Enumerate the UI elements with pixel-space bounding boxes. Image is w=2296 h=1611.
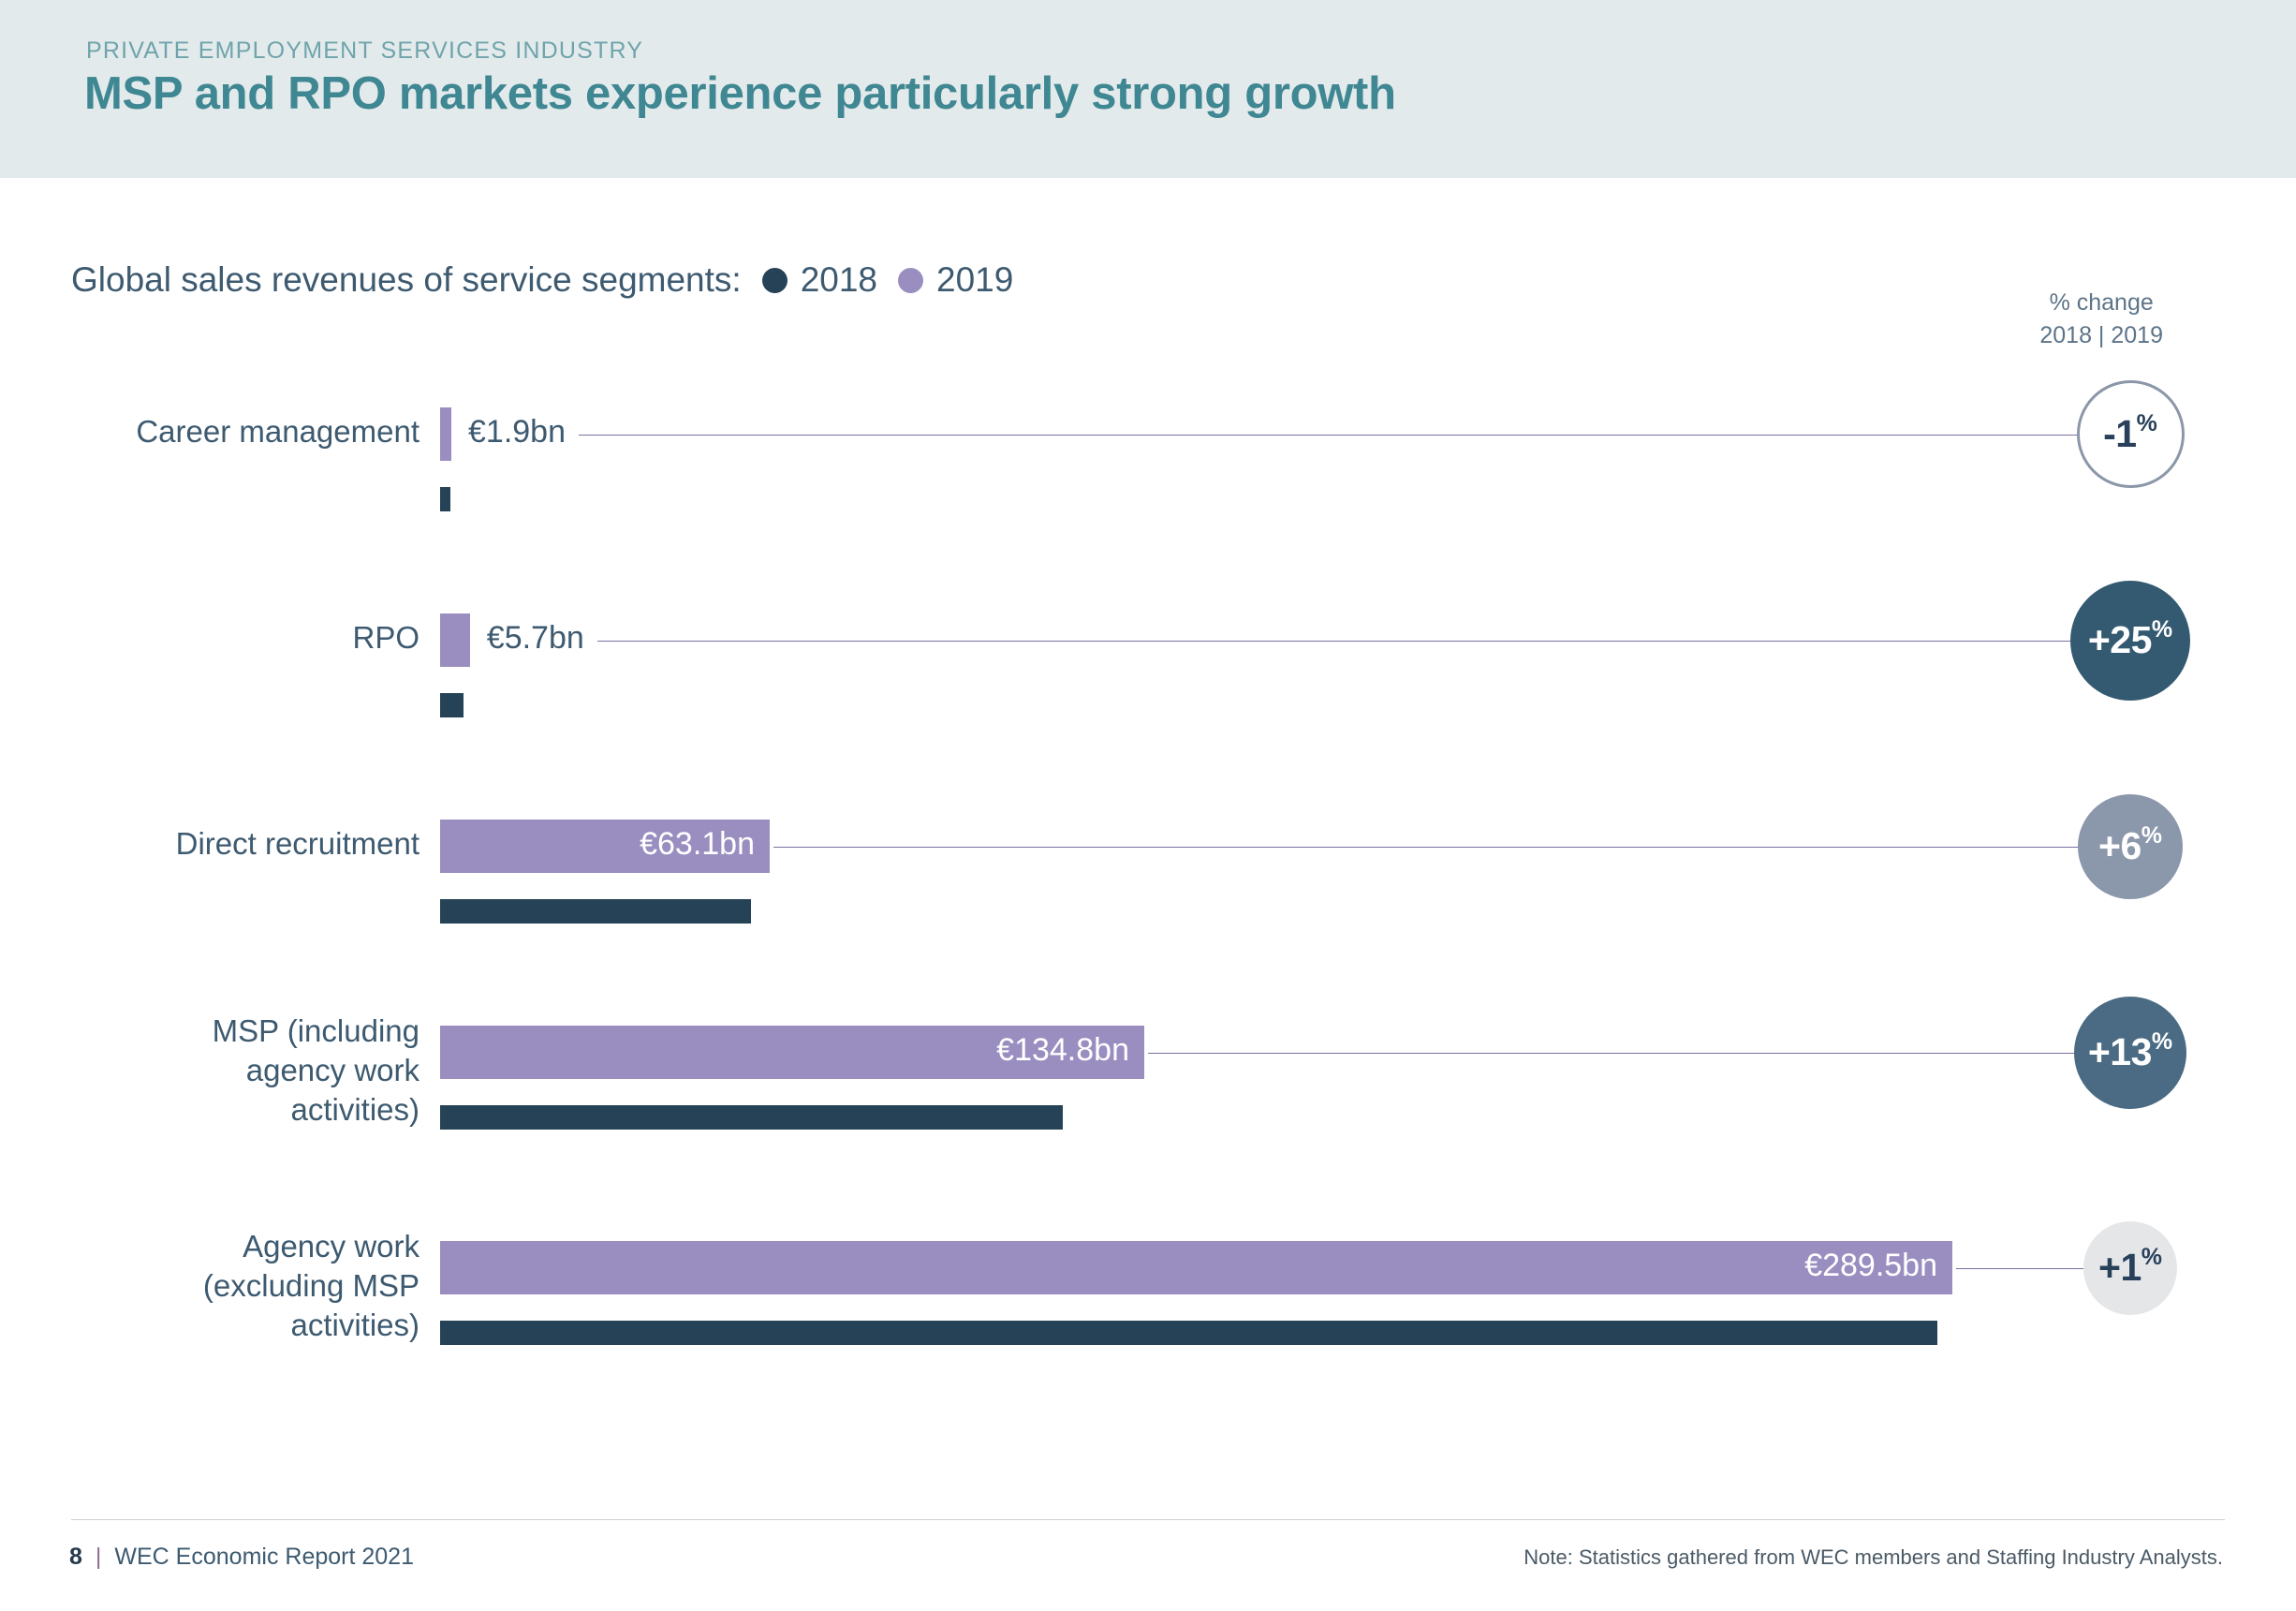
category-label-line: RPO bbox=[64, 618, 419, 658]
percent-change-value: +13 bbox=[2088, 1030, 2152, 1074]
category-label: Direct recruitment bbox=[64, 824, 419, 864]
category-label-line: Agency work bbox=[64, 1227, 419, 1266]
legend-dot-2018 bbox=[762, 268, 787, 293]
chart-subtitle: Global sales revenues of service segment… bbox=[71, 260, 742, 300]
bar-2018 bbox=[440, 693, 464, 717]
legend-label-2018: 2018 bbox=[801, 260, 877, 300]
report-name: WEC Economic Report 2021 bbox=[114, 1544, 414, 1571]
footer-left: 8 | WEC Economic Report 2021 bbox=[69, 1544, 414, 1571]
bar-2018 bbox=[440, 1321, 1937, 1345]
footer-separator: | bbox=[96, 1544, 102, 1571]
bar-2019 bbox=[440, 1241, 1952, 1294]
category-label-line: agency work bbox=[64, 1051, 419, 1090]
footer-note: Note: Statistics gathered from WEC membe… bbox=[1523, 1545, 2223, 1570]
percent-change-bubble[interactable]: +1% bbox=[2083, 1221, 2177, 1315]
leader-line bbox=[773, 847, 2078, 848]
percent-sign: % bbox=[2141, 822, 2162, 850]
page-number: 8 bbox=[69, 1544, 82, 1571]
percent-change-header: % change 2018 | 2019 bbox=[2039, 287, 2163, 351]
footer-divider bbox=[71, 1519, 2225, 1520]
bar-2019 bbox=[440, 820, 770, 873]
category-label-line: Career management bbox=[64, 412, 419, 451]
legend-item-2019: 2019 bbox=[898, 260, 1013, 300]
category-label-line: activities) bbox=[64, 1306, 419, 1345]
percent-change-header-line2: 2018 | 2019 bbox=[2039, 319, 2163, 352]
category-label: Career management bbox=[64, 412, 419, 451]
percent-change-bubble[interactable]: +25% bbox=[2070, 581, 2190, 701]
category-label-line: activities) bbox=[64, 1090, 419, 1130]
bar-value-label: €134.8bn bbox=[996, 1032, 1129, 1069]
bar-value-label: €1.9bn bbox=[468, 414, 566, 451]
category-label-line: (excluding MSP bbox=[64, 1266, 419, 1306]
percent-change-bubble[interactable]: +13% bbox=[2074, 997, 2186, 1109]
percent-change-bubble[interactable]: +6% bbox=[2078, 794, 2183, 899]
leader-line bbox=[579, 435, 2077, 436]
leader-line bbox=[1148, 1053, 2074, 1054]
bar-2018 bbox=[440, 1105, 1063, 1130]
percent-sign: % bbox=[2137, 410, 2157, 437]
bar-2018 bbox=[440, 899, 751, 924]
bar-2019 bbox=[440, 407, 451, 461]
percent-change-value: +25 bbox=[2088, 618, 2152, 662]
category-label-line: MSP (including bbox=[64, 1012, 419, 1051]
percent-sign: % bbox=[2141, 1244, 2162, 1271]
percent-change-value: +6 bbox=[2098, 824, 2141, 868]
percent-change-value: +1 bbox=[2098, 1246, 2141, 1290]
percent-sign: % bbox=[2152, 616, 2172, 643]
eyebrow-text: PRIVATE EMPLOYMENT SERVICES INDUSTRY bbox=[86, 37, 643, 65]
category-label: RPO bbox=[64, 618, 419, 658]
bar-2018 bbox=[440, 487, 450, 511]
legend-dot-2019 bbox=[898, 268, 923, 293]
bar-value-label: €289.5bn bbox=[1804, 1248, 1937, 1284]
percent-sign: % bbox=[2152, 1028, 2172, 1056]
bar-2019 bbox=[440, 613, 470, 667]
category-label-line: Direct recruitment bbox=[64, 824, 419, 864]
bar-2019 bbox=[440, 1026, 1144, 1079]
chart-subtitle-row: Global sales revenues of service segment… bbox=[71, 260, 1013, 300]
legend-item-2018: 2018 bbox=[762, 260, 877, 300]
percent-change-header-line1: % change bbox=[2039, 287, 2163, 319]
category-label: MSP (includingagency workactivities) bbox=[64, 1012, 419, 1131]
percent-change-value: -1 bbox=[2103, 412, 2136, 456]
page-title: MSP and RPO markets experience particula… bbox=[84, 67, 1396, 120]
bar-value-label: €5.7bn bbox=[487, 620, 584, 657]
leader-line bbox=[1956, 1268, 2083, 1269]
bar-value-label: €63.1bn bbox=[640, 826, 755, 863]
leader-line bbox=[597, 641, 2070, 642]
bar-chart: Career management€1.9bn-1%RPO€5.7bn+25%D… bbox=[0, 0, 2296, 1611]
percent-change-bubble[interactable]: -1% bbox=[2077, 380, 2185, 488]
legend-label-2019: 2019 bbox=[936, 260, 1013, 300]
category-label: Agency work(excluding MSPactivities) bbox=[64, 1227, 419, 1346]
